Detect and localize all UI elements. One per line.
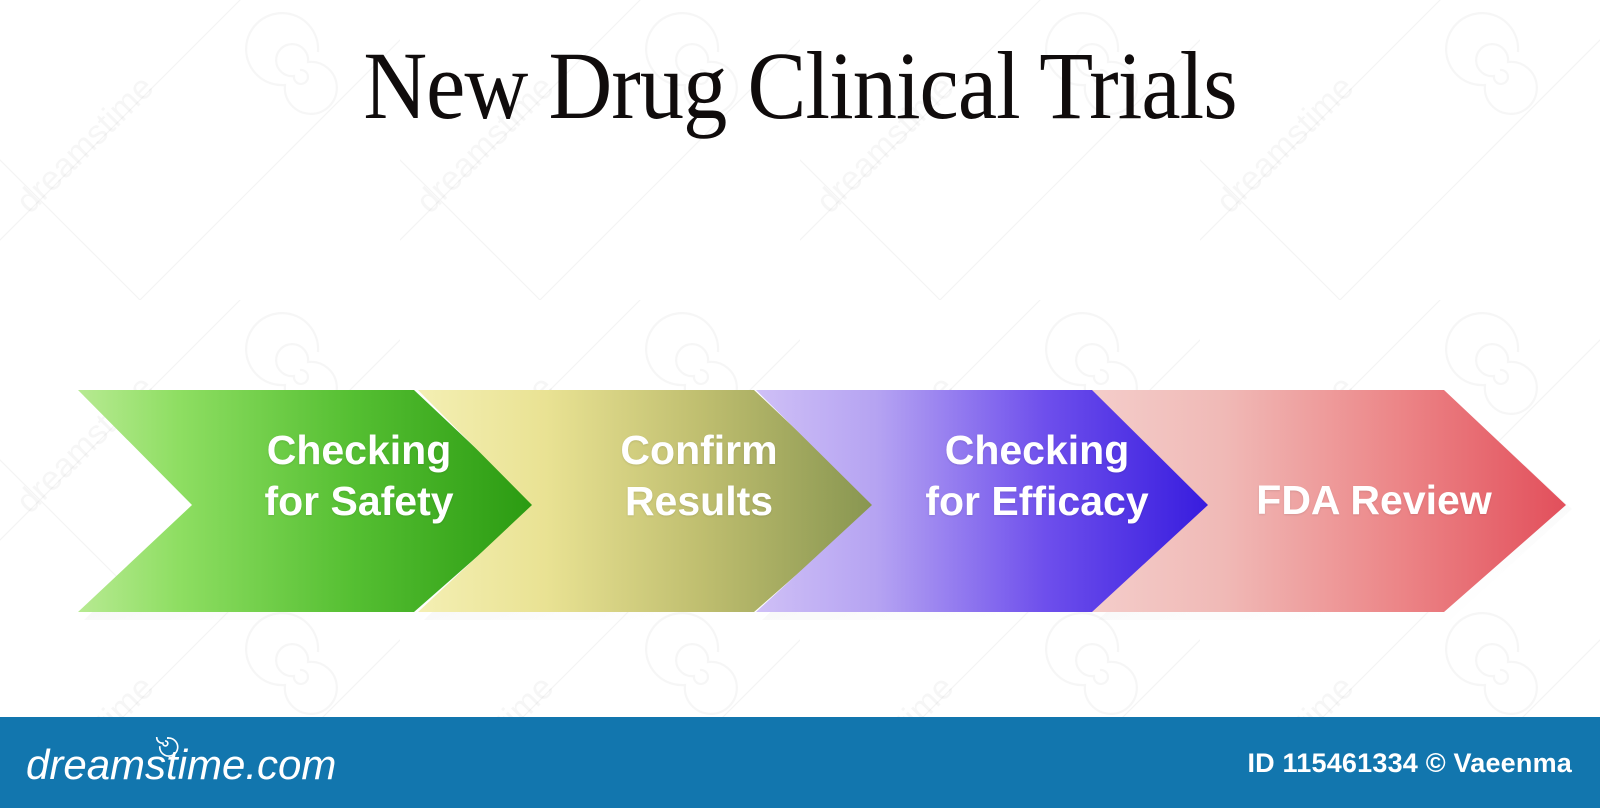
process-step-4-label: FDA Review	[1194, 475, 1554, 526]
process-flow-diagram: Checking for Safety	[0, 380, 1600, 630]
watermark-footer-bar: dreamstime.com ID 115461334 © Vaeenma	[0, 717, 1600, 808]
dreamstime-logo[interactable]: dreamstime.com	[26, 737, 356, 787]
process-step-1-label: Checking for Safety	[194, 425, 524, 527]
page-title: New Drug Clinical Trials	[64, 38, 1536, 134]
image-credit: ID 115461334 © Vaeenma	[1247, 748, 1572, 779]
process-step-2-label: Confirm Results	[534, 425, 864, 527]
image-canvas: New Drug Clinical Trials	[0, 0, 1600, 808]
dreamstime-logo-text: dreamstime.com	[26, 741, 336, 787]
process-step-3-label: Checking for Efficacy	[862, 425, 1212, 527]
